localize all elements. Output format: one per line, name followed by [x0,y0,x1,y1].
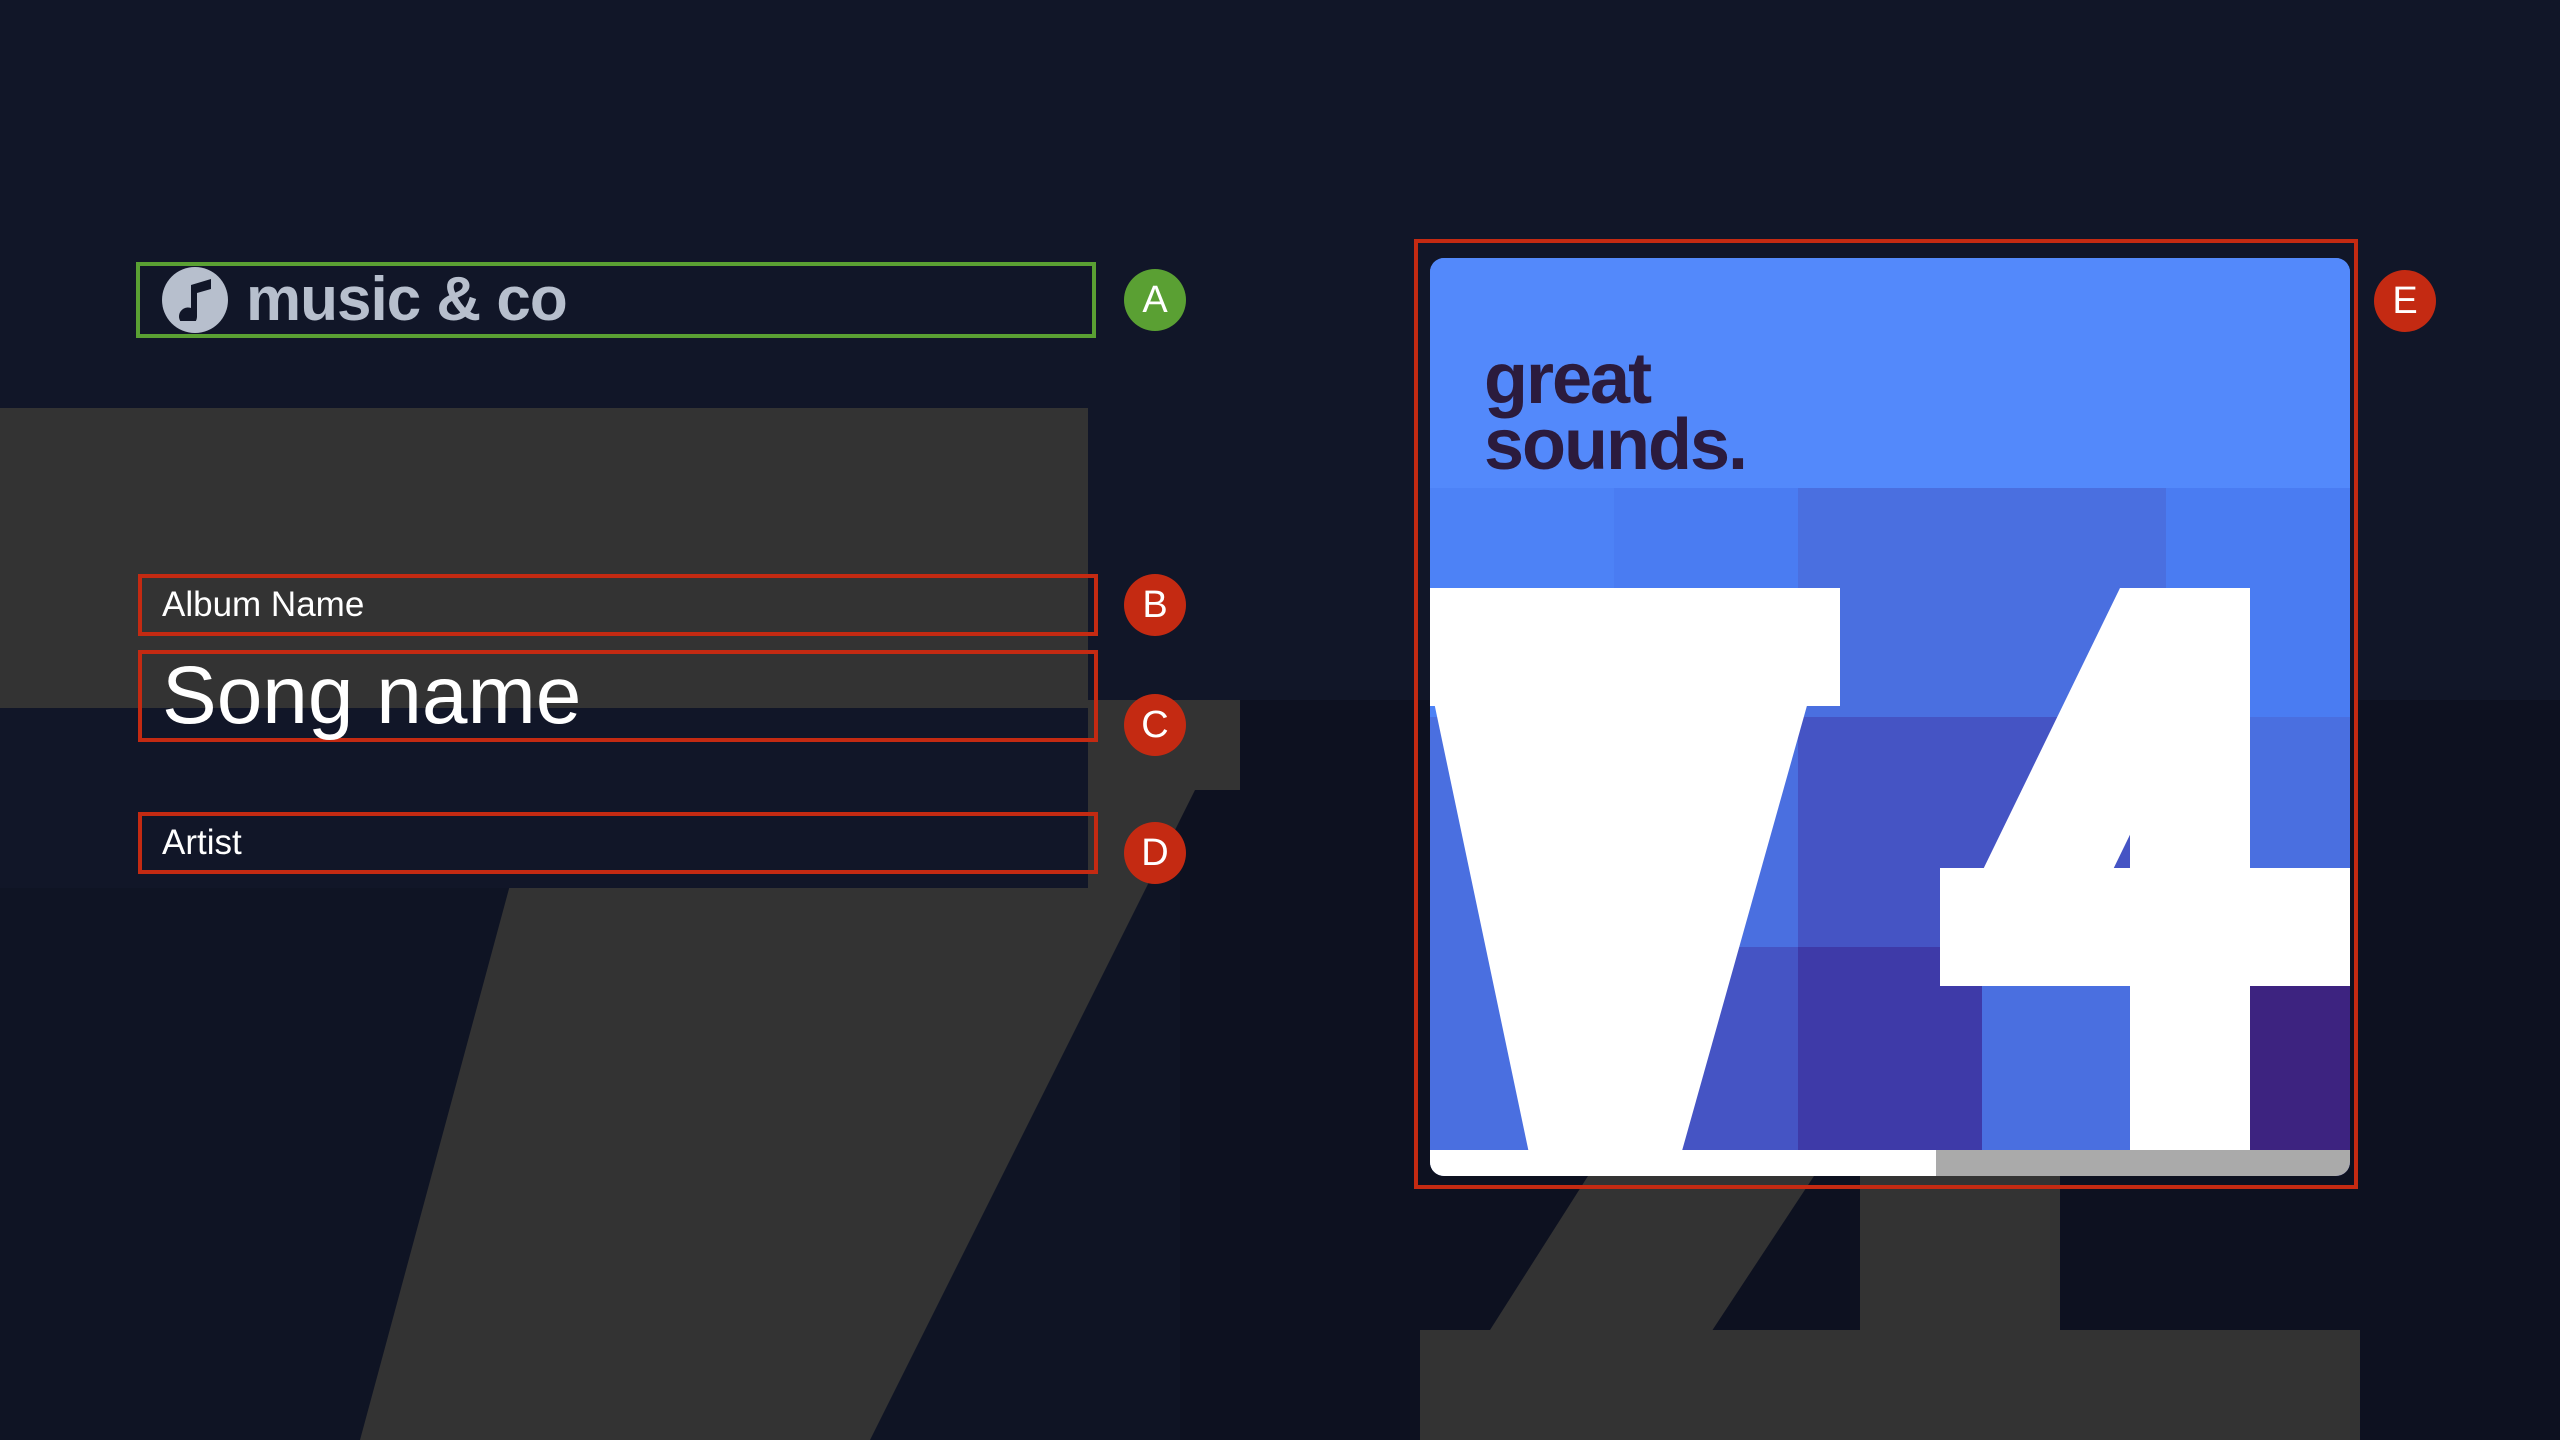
album-progress-fill [1430,1150,1936,1176]
brand-logo[interactable]: music & co [136,262,1096,338]
album-name-value: Album Name [162,585,364,625]
annotation-badge-a: A [1124,269,1186,331]
annotation-badge-d: D [1124,822,1186,884]
song-name-value: Song name [162,649,581,743]
album-name-field[interactable]: Album Name [138,574,1098,636]
music-note-icon [162,267,228,333]
album-progress-bar[interactable] [1430,1150,2350,1176]
album-art-headline: great sounds. [1484,346,1746,478]
artist-value: Artist [162,823,242,863]
song-name-field[interactable]: Song name [138,650,1098,742]
album-art[interactable]: great sounds. [1430,258,2350,1176]
annotation-badge-e: E [2374,270,2436,332]
annotation-badge-c: C [1124,694,1186,756]
brand-name: music & co [246,269,567,331]
annotation-badge-b: B [1124,574,1186,636]
artist-field[interactable]: Artist [138,812,1098,874]
